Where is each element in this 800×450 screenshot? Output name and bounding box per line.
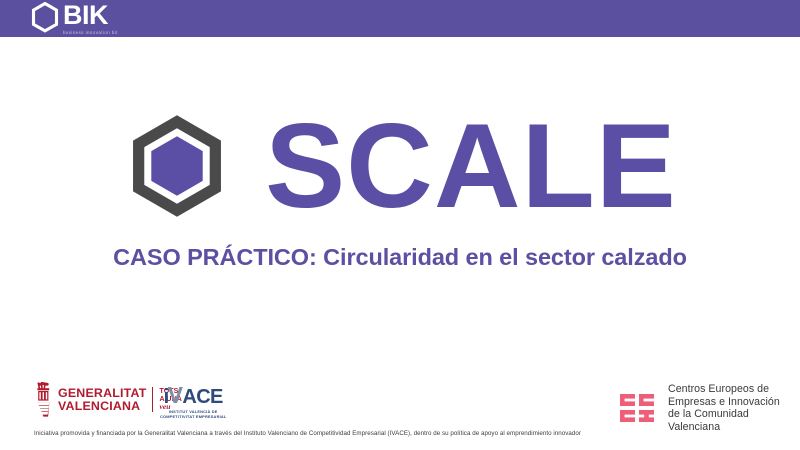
footer-logo-row: GENERALITAT VALENCIANA TOTS A UNA veu iV… <box>0 378 800 424</box>
ceei-logo[interactable]: Centros Europeos de Empresas e Innovació… <box>620 383 800 433</box>
hexagon-outline-icon <box>31 2 59 33</box>
ivace-wordmark: iVACE <box>164 385 223 407</box>
bik-tagline: business innovation bit <box>63 30 118 36</box>
scale-logo-block: SCALE <box>0 112 800 220</box>
bik-text-wrap: BIK business innovation bit <box>63 1 118 36</box>
ivace-subtitle: INSTITUT VALENCIÀ DE COMPETITIVITAT EMPR… <box>160 409 226 419</box>
generalitat-line-1: GENERALITAT <box>58 387 146 400</box>
generalitat-line-2: VALENCIANA <box>58 400 146 413</box>
bik-logo[interactable]: BIK business innovation bit <box>31 1 118 36</box>
funding-disclaimer: Iniciativa promovida y financiada por la… <box>34 430 581 437</box>
ivace-letter-v: V <box>168 385 183 405</box>
generalitat-shield-icon <box>34 382 53 417</box>
ceei-bars-icon <box>620 393 660 423</box>
ivace-subtitle-line-2: COMPETITIVITAT EMPRESARIAL <box>160 414 226 419</box>
scale-wordmark: SCALE <box>265 112 677 220</box>
generalitat-wordmark: GENERALITAT VALENCIANA <box>58 387 146 412</box>
scale-hexagon-icon <box>123 112 231 220</box>
ivace-letters-ace: ACE <box>182 387 222 407</box>
header-bar: BIK business innovation bit <box>0 0 800 37</box>
ivace-logo[interactable]: iVACE INSTITUT VALENCIÀ DE COMPETITIVITA… <box>160 385 226 419</box>
bik-wordmark: BIK <box>63 2 118 29</box>
ceei-description: Centros Europeos de Empresas e Innovació… <box>668 383 800 433</box>
ceei-line-2: Empresas e Innovación <box>668 396 800 409</box>
ceei-line-3: de la Comunidad Valenciana <box>668 408 800 433</box>
generalitat-divider <box>152 387 153 412</box>
page-subtitle: CASO PRÁCTICO: Circularidad en el sector… <box>0 244 800 271</box>
ceei-line-1: Centros Europeos de <box>668 383 800 396</box>
